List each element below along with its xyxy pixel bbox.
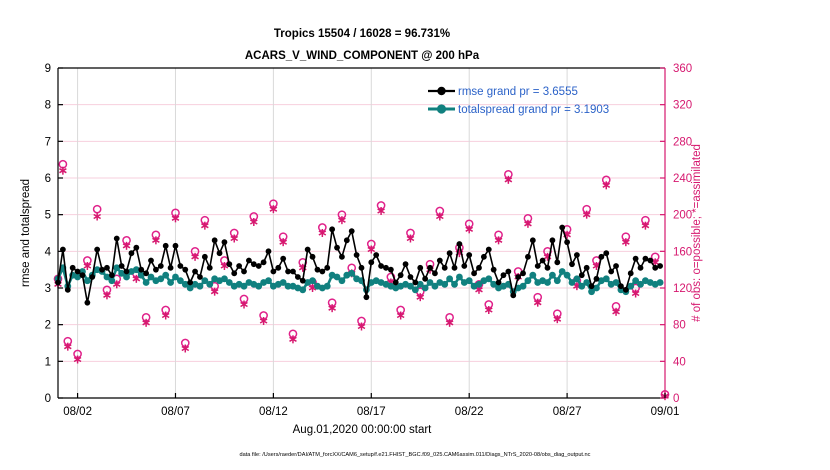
y-tick-label-right: 320: [673, 100, 692, 112]
y-tick-label-right: 0: [673, 393, 679, 405]
totalspread-point: [339, 277, 346, 284]
rmse-point: [481, 254, 487, 260]
rmse-point: [192, 269, 198, 275]
rmse-point: [197, 274, 203, 280]
totalspread-point: [108, 277, 115, 284]
y-tick-label-right: 80: [673, 320, 686, 332]
totalspread-point: [456, 274, 463, 281]
x-tick-label: 08/02: [63, 406, 92, 418]
totalspread-point: [324, 283, 331, 290]
x-tick-label: 08/12: [259, 406, 288, 418]
totalspread-point: [564, 272, 571, 279]
rmse-point: [550, 237, 556, 243]
rmse-point: [65, 287, 71, 293]
rmse-point: [442, 265, 448, 271]
rmse-point: [290, 269, 296, 275]
rmse-point: [554, 259, 560, 265]
rmse-point: [168, 265, 174, 271]
totalspread-point: [525, 277, 532, 284]
x-tick-label: 08/17: [357, 406, 386, 418]
rmse-point: [408, 274, 414, 280]
rmse-point: [295, 274, 301, 280]
y-tick-label-left: 4: [45, 246, 52, 258]
y-tick-label-left: 0: [45, 393, 51, 405]
rmse-point: [373, 252, 379, 258]
rmse-point: [452, 265, 458, 271]
rmse-point: [623, 287, 629, 293]
rmse-point: [138, 267, 144, 273]
rmse-point: [173, 243, 179, 249]
rmse-point: [349, 228, 355, 234]
rmse-point: [354, 252, 360, 258]
y-tick-label-left: 2: [45, 320, 51, 332]
rmse-point: [412, 280, 418, 286]
rmse-point: [339, 254, 345, 260]
rmse-point: [598, 254, 604, 260]
rmse-point: [569, 261, 575, 267]
legend-marker-rmse: [437, 87, 445, 95]
y-tick-label-right: 200: [673, 210, 692, 222]
rmse-point: [447, 250, 453, 256]
rmse-point: [564, 239, 570, 245]
x-axis-label: Aug.01,2020 00:00:00 start: [293, 424, 433, 436]
rmse-point: [217, 250, 223, 256]
rmse-point: [579, 272, 585, 278]
rmse-point: [608, 269, 614, 275]
totalspread-point: [162, 272, 169, 279]
rmse-point: [398, 272, 404, 278]
rmse-point: [545, 265, 551, 271]
rmse-point: [559, 225, 565, 231]
figure-background: [0, 0, 830, 470]
rmse-point: [148, 258, 154, 264]
rmse-point: [266, 248, 272, 254]
y-tick-label-right: 40: [673, 356, 686, 368]
rmse-point: [574, 252, 580, 258]
rmse-point: [417, 265, 423, 271]
rmse-point: [207, 265, 213, 271]
y-tick-label-right: 160: [673, 246, 692, 258]
y-tick-label-left: 8: [45, 100, 51, 112]
rmse-point: [496, 280, 502, 286]
chart-title-line2: ACARS_V_WIND_COMPONENT @ 200 hPa: [245, 50, 480, 62]
rmse-point: [329, 226, 335, 232]
totalspread-point: [309, 277, 316, 284]
totalspread-point: [123, 274, 130, 281]
totalspread-point: [167, 279, 174, 286]
legend-marker-totalspread: [437, 104, 446, 113]
totalspread-point: [412, 286, 419, 293]
y-axis-label-left: rmse and totalspread: [20, 179, 32, 287]
rmse-point: [70, 265, 76, 271]
y-tick-label-left: 3: [45, 283, 51, 295]
rmse-point: [119, 263, 125, 269]
rmse-point: [457, 241, 463, 247]
chart-title-line1: Tropics 15504 / 16028 = 96.731%: [274, 28, 450, 40]
rmse-point: [153, 267, 159, 273]
rmse-point: [124, 269, 130, 275]
rmse-point: [261, 259, 267, 265]
rmse-point: [510, 292, 516, 298]
y-tick-label-left: 7: [45, 136, 51, 148]
rmse-point: [256, 263, 262, 269]
rmse-point: [466, 252, 472, 258]
totalspread-point: [451, 281, 458, 288]
rmse-point: [647, 258, 653, 264]
totalspread-point: [446, 275, 453, 282]
x-tick-label: 08/07: [161, 406, 190, 418]
rmse-point: [388, 267, 394, 273]
rmse-point: [344, 237, 350, 243]
totalspread-point: [143, 279, 150, 286]
totalspread-point: [603, 275, 610, 282]
rmse-point: [530, 237, 536, 243]
rmse-point: [89, 274, 95, 280]
rmse-point: [202, 254, 208, 260]
rmse-point: [501, 272, 507, 278]
rmse-point: [109, 272, 115, 278]
x-tick-label: 08/22: [455, 406, 484, 418]
totalspread-point: [422, 285, 429, 292]
totalspread-point: [299, 286, 306, 293]
rmse-point: [222, 239, 228, 245]
rmse-point: [133, 245, 139, 251]
rmse-point: [657, 263, 663, 269]
rmse-point: [275, 265, 281, 271]
rmse-point: [305, 247, 311, 253]
rmse-point: [476, 265, 482, 271]
rmse-point: [368, 259, 374, 265]
y-tick-label-right: 120: [673, 283, 692, 295]
legend-label-totalspread: totalspread grand pr = 3.1903: [458, 104, 609, 116]
rmse-point: [324, 265, 330, 271]
rmse-point: [603, 250, 609, 256]
rmse-point: [505, 269, 511, 275]
rmse-point: [226, 261, 232, 267]
rmse-point: [515, 274, 521, 280]
x-tick-label: 09/01: [651, 406, 680, 418]
rmse-point: [427, 265, 433, 271]
rmse-point: [628, 270, 634, 276]
rmse-point: [280, 256, 286, 262]
rmse-point: [393, 280, 399, 286]
rmse-point: [129, 250, 135, 256]
y-tick-label-right: 240: [673, 173, 692, 185]
rmse-point: [231, 270, 237, 276]
rmse-point: [334, 245, 340, 251]
rmse-point: [594, 276, 600, 282]
totalspread-point: [529, 272, 536, 279]
rmse-point: [84, 300, 90, 306]
rmse-point: [300, 278, 306, 284]
y-tick-label-left: 5: [45, 210, 51, 222]
rmse-point: [182, 267, 188, 273]
rmse-point: [94, 247, 100, 253]
legend-label-rmse: rmse grand pr = 3.6555: [458, 86, 578, 98]
rmse-point: [422, 276, 428, 282]
rmse-point: [535, 263, 541, 269]
rmse-point: [212, 237, 218, 243]
rmse-point: [241, 269, 247, 275]
totalspread-point: [197, 283, 204, 290]
data-file-footer: data file: /Users/raeder/DAI/ATM_forcXX/…: [240, 452, 591, 458]
rmse-point: [432, 270, 438, 276]
totalspread-point: [348, 270, 355, 277]
rmse-point: [403, 261, 409, 267]
rmse-point: [177, 263, 183, 269]
rmse-point: [158, 263, 164, 269]
rmse-point: [471, 270, 477, 276]
rmse-point: [143, 270, 149, 276]
totalspread-point: [265, 277, 272, 284]
rmse-point: [187, 280, 193, 286]
rmse-point: [236, 263, 242, 269]
rmse-point: [310, 254, 316, 260]
rmse-point: [520, 270, 526, 276]
rmse-point: [114, 236, 120, 242]
y-tick-label-left: 9: [45, 63, 51, 75]
rmse-point: [525, 254, 531, 260]
totalspread-point: [485, 275, 492, 282]
rmse-point: [589, 283, 595, 289]
rmse-point: [437, 258, 443, 264]
rmse-point: [75, 269, 81, 275]
observation-diagnostics-chart: Tropics 15504 / 16028 = 96.731% ACARS_V_…: [0, 0, 830, 470]
rmse-point: [584, 265, 590, 271]
rmse-point: [618, 283, 624, 289]
rmse-point: [540, 258, 546, 264]
rmse-point: [491, 267, 497, 273]
y-tick-label-right: 280: [673, 136, 692, 148]
totalspread-point: [520, 283, 527, 290]
rmse-point: [633, 256, 639, 262]
totalspread-point: [554, 277, 561, 284]
rmse-point: [270, 269, 276, 275]
x-tick-label: 08/27: [553, 406, 582, 418]
y-tick-label-right: 360: [673, 63, 692, 75]
y-tick-label-left: 1: [45, 356, 51, 368]
rmse-point: [461, 263, 467, 269]
totalspread-point: [549, 272, 556, 279]
rmse-point: [363, 294, 369, 300]
y-axis-label-right: # of obs: o=possible; *=assimilated: [691, 144, 703, 322]
totalspread-point: [206, 281, 213, 288]
totalspread-point: [466, 277, 473, 284]
rmse-point: [246, 258, 252, 264]
rmse-point: [163, 243, 169, 249]
rmse-point: [638, 265, 644, 271]
y-tick-label-left: 6: [45, 173, 51, 185]
totalspread-point: [657, 279, 664, 286]
totalspread-point: [441, 281, 448, 288]
rmse-point: [80, 272, 86, 278]
rmse-point: [104, 265, 110, 271]
totalspread-point: [544, 279, 551, 286]
rmse-point: [319, 269, 325, 275]
rmse-point: [486, 247, 492, 253]
rmse-point: [359, 265, 365, 271]
rmse-point: [613, 263, 619, 269]
